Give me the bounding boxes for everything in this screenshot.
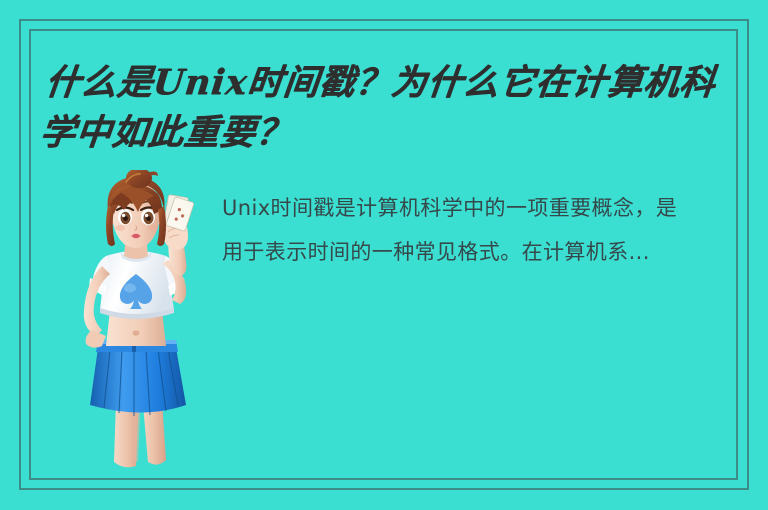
page-title: 什么是Unix时间戳？为什么它在计算机科学中如此重要？ [37, 58, 738, 158]
playing-cards [164, 194, 195, 231]
article-excerpt: Unix时间戳是计算机科学中的一项重要概念，是用于表示时间的一种常见格式。在计算… [222, 186, 682, 274]
article-card: 什么是Unix时间戳？为什么它在计算机科学中如此重要？ [0, 0, 768, 510]
illustration-anime-girl [62, 170, 212, 480]
skirt [90, 340, 186, 416]
anime-girl-icon [62, 170, 212, 480]
